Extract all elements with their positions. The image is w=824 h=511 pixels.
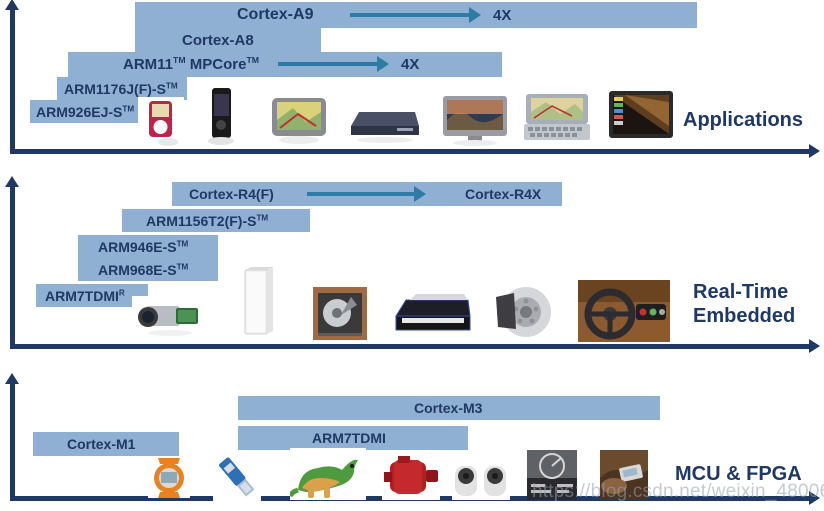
device-handheld-meter: [600, 450, 648, 500]
bar-arm1156t2fs[interactable]: ARM1156T2(F)-STM: [122, 209, 310, 232]
device-car-dashboard: [578, 280, 670, 342]
device-wireless-router: [237, 266, 275, 342]
bar-label-cortex-r4f: Cortex-R4(F): [189, 186, 274, 202]
category-label-embedded-line-1: Real-Time: [693, 280, 823, 304]
trademark-sup-arm11: TM: [173, 55, 186, 65]
device-mp3-player: [138, 97, 184, 147]
category-label-applications: Applications: [683, 108, 823, 132]
bar-label-arm1176jfs: ARM1176J(F)-STM: [64, 81, 178, 97]
device-digital-tv: [440, 92, 510, 148]
bar-arm11-mpcore[interactable]: ARM11TM MPCoreTM 4X: [68, 52, 502, 77]
bar-label-cortex-m3: Cortex-M3: [414, 400, 482, 416]
bar-label-arm11: ARM11: [123, 56, 173, 73]
bar-label-arm7tdmi-mcu: ARM7TDMI: [312, 430, 386, 446]
bar-label-arm926ejs: ARM926EJ-STM: [36, 104, 134, 120]
bar-label-arm946es: ARM946E-STM: [98, 239, 188, 255]
trademark-sup-arm1156: TM: [256, 213, 268, 222]
bar-arm926ejs[interactable]: ARM926EJ-STM: [30, 100, 138, 123]
mcu-y-axis: [10, 382, 15, 500]
device-camcorder: [132, 296, 204, 342]
bar-label-arm968es-text: ARM968E-S: [98, 262, 177, 278]
device-usb-flash-drive: [213, 452, 261, 504]
device-mobile-internet-device: [520, 88, 596, 147]
bar-label-arm926ejs-text: ARM926EJ-S: [36, 104, 122, 120]
device-electric-motor: [382, 456, 440, 500]
device-gps-navigator: [268, 92, 330, 147]
bar-cortex-a8[interactable]: Cortex-A8: [135, 28, 321, 52]
bar-cortex-a9[interactable]: Cortex-A9 4X: [135, 2, 697, 28]
bar-label-arm7tdmi-embedded-text: ARM7TDMI: [45, 288, 119, 304]
bar-arrow-label-cortex-r4x: Cortex-R4X: [465, 186, 541, 202]
bar-label-cortex-a9: Cortex-A9: [237, 6, 313, 24]
bar-arrow-label-arm11-mpcore: 4X: [401, 56, 419, 73]
bar-label-arm1156t2fs: ARM1156T2(F)-STM: [146, 213, 268, 229]
bar-cortex-m1[interactable]: Cortex-M1: [33, 432, 179, 456]
trademark-sup-arm1176: TM: [166, 81, 178, 90]
arm-processor-roadmap-diagram: Cortex-A9 4X Cortex-A8 ARM11TM MPCoreTM …: [0, 0, 824, 511]
bar-arm946es[interactable]: ARM946E-STM: [78, 235, 218, 258]
bar-cortex-r4f[interactable]: Cortex-R4(F) Cortex-R4X: [172, 182, 562, 206]
device-speakers: [452, 460, 510, 500]
device-mobile-phone: [200, 86, 242, 147]
device-hard-disk-drive: [311, 285, 369, 342]
bar-label-mpcore: MPCore: [190, 56, 247, 73]
bar-label-cortex-a8: Cortex-A8: [182, 32, 254, 49]
category-label-mcu-fpga: MCU & FPGA: [675, 462, 824, 486]
embedded-x-axis: [10, 344, 810, 349]
device-instrument-cluster: [527, 450, 577, 500]
device-portable-media-player: [605, 88, 677, 146]
bar-label-arm968es: ARM968E-STM: [98, 262, 188, 278]
trademark-sup-arm926: TM: [122, 104, 134, 113]
bar-label-arm11-mpcore: ARM11TM MPCoreTM: [123, 56, 259, 73]
growth-arrow-cortex-a9: [350, 13, 470, 17]
bar-label-arm1176jfs-text: ARM1176J(F)-S: [64, 81, 166, 97]
bar-label-arm7tdmi-embedded: ARM7TDMIR: [45, 288, 125, 304]
category-label-embedded-line-2: Embedded: [693, 304, 823, 328]
applications-y-axis: [10, 8, 15, 153]
trademark-sup-arm968: TM: [177, 262, 189, 271]
applications-x-axis: [10, 149, 810, 154]
bar-arrow-label-cortex-a9: 4X: [493, 7, 511, 24]
category-label-real-time-embedded: Real-Time Embedded: [693, 280, 823, 328]
bar-label-arm1156t2fs-text: ARM1156T2(F)-S: [146, 213, 256, 229]
embedded-y-axis: [10, 185, 15, 348]
bar-label-arm946es-text: ARM946E-S: [98, 239, 177, 255]
trademark-sup-arm946: TM: [177, 239, 189, 248]
device-sport-watch: [148, 458, 190, 498]
bar-arm968es[interactable]: ARM968E-STM: [78, 258, 218, 281]
category-label-applications-line-1: Applications: [683, 108, 823, 132]
bar-label-cortex-m1: Cortex-M1: [67, 436, 135, 452]
trademark-sup-mpcore: TM: [246, 55, 259, 65]
device-inkjet-printer: [390, 286, 474, 342]
device-brake-disc: [492, 283, 554, 342]
bar-arm7tdmi-mcu[interactable]: ARM7TDMI: [238, 426, 468, 450]
growth-arrow-cortex-r4f: [307, 192, 415, 196]
registered-sup-arm7tdmi: R: [119, 288, 125, 297]
device-toy-dinosaur: [290, 448, 366, 500]
bar-cortex-m3[interactable]: Cortex-M3: [238, 396, 660, 420]
growth-arrow-arm11-mpcore: [278, 62, 378, 66]
category-label-mcu-fpga-line-1: MCU & FPGA: [675, 462, 824, 486]
device-set-top-box: [345, 98, 423, 146]
